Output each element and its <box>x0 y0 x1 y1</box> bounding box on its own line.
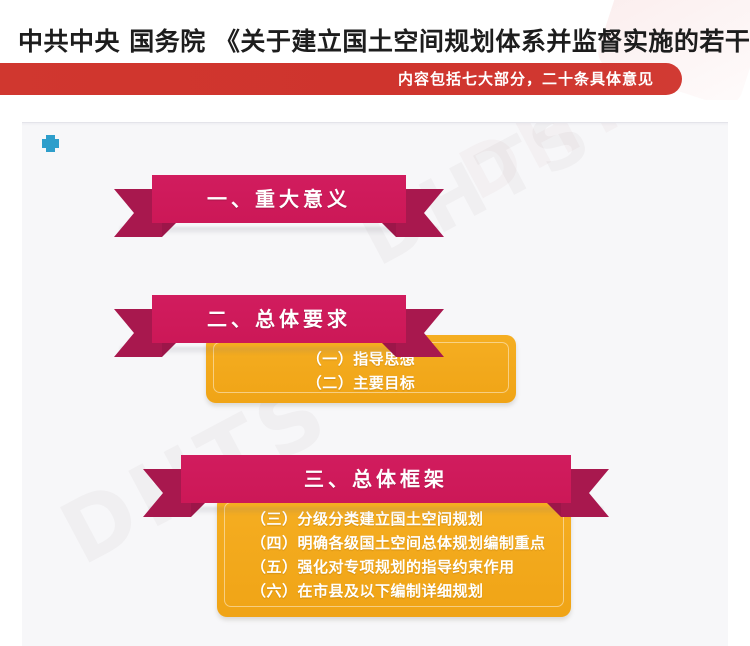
list-item: （五）强化对专项规划的指导约束作用 <box>251 555 571 579</box>
slide-root: 中共中央 国务院 《关于建立国土空间规划体系并监督实施的若干意见》 内容包括七大… <box>0 0 750 646</box>
ribbon-banner-1: 一、重大意义 <box>114 175 444 223</box>
ribbon-band: 二、总体要求 <box>152 295 406 343</box>
ribbon-banner-3: 三、总体框架 <box>143 455 609 503</box>
plus-icon <box>46 139 55 148</box>
header-subtitle-bar: 内容包括七大部分，二十条具体意见 <box>0 63 682 95</box>
content-area: DHTS DHTS DHTS 一、重大意义 <box>0 100 750 646</box>
list-item: （四）明确各级国土空间总体规划编制重点 <box>251 531 571 555</box>
header: 中共中央 国务院 《关于建立国土空间规划体系并监督实施的若干意见》 内容包括七大… <box>0 0 750 100</box>
header-subtitle-text: 内容包括七大部分，二十条具体意见 <box>398 63 654 95</box>
ribbon-banner-2: 二、总体要求 <box>114 295 444 343</box>
page-title: 中共中央 国务院 《关于建立国土空间规划体系并监督实施的若干意见》 <box>18 22 750 58</box>
section-title-3: 三、总体框架 <box>181 455 571 503</box>
ribbon-band: 三、总体框架 <box>181 455 571 503</box>
section-title-1: 一、重大意义 <box>152 175 406 223</box>
ribbon-band: 一、重大意义 <box>152 175 406 223</box>
section-subbox-2: （一）指导思想 （二）主要目标 <box>206 335 516 403</box>
list-item: （六）在市县及以下编制详细规划 <box>251 579 571 603</box>
section-title-2: 二、总体要求 <box>152 295 406 343</box>
watermark-text: DHTS <box>447 123 696 216</box>
list-item: （二）主要目标 <box>206 371 516 395</box>
content-panel: DHTS DHTS DHTS 一、重大意义 <box>22 122 728 646</box>
panel-top-border <box>22 123 728 126</box>
subitem-list-3: （三）分级分类建立国土空间规划 （四）明确各级国土空间总体规划编制重点 （五）强… <box>217 507 571 603</box>
ribbon-shadow <box>149 507 603 515</box>
